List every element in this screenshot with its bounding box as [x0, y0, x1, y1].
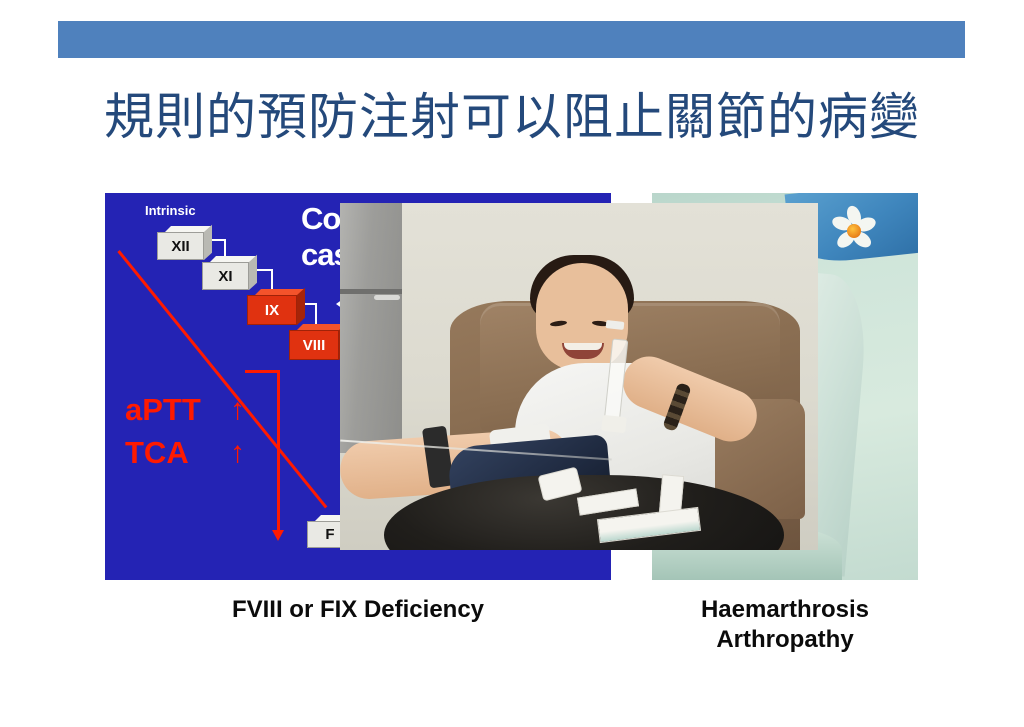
flower-center	[847, 224, 861, 238]
up-arrow-icon: ↑	[230, 431, 245, 474]
refrigerator	[340, 203, 402, 453]
factor-box-label: F	[325, 526, 334, 543]
caption-line-2: Arthropathy	[652, 625, 918, 655]
page-title: 規則的預防注射可以阻止關節的病變	[0, 86, 1024, 148]
factor-box-label: XI	[218, 268, 232, 285]
lab-test-name: TCA	[125, 431, 220, 474]
factor-box-label: VIII	[303, 337, 326, 354]
boy-self-infusion-photo	[340, 203, 818, 550]
caption-line-1: Haemarthrosis	[652, 595, 918, 625]
factor-box-label: XII	[171, 238, 189, 255]
factor-box-xii: XII	[157, 226, 204, 260]
caption-haemarthrosis-arthropathy: Haemarthrosis Arthropathy	[652, 595, 918, 655]
title-accent-bar	[58, 21, 965, 58]
lab-row-tca: TCA ↑	[125, 431, 245, 474]
intrinsic-pathway-label: Intrinsic	[145, 203, 196, 218]
red-arrow-elbow	[245, 370, 280, 373]
fridge-handle	[374, 295, 400, 300]
fridge-door-seam	[340, 289, 402, 294]
lab-test-name: aPTT	[125, 388, 220, 431]
up-arrow-icon: ↑	[230, 388, 245, 431]
boy-teeth	[564, 343, 602, 350]
caption-fviii-fix-deficiency: FVIII or FIX Deficiency	[105, 595, 611, 625]
flower-motif-icon	[832, 209, 876, 253]
red-down-arrow-icon	[277, 371, 280, 531]
factor-box-viii: VIII	[289, 324, 339, 360]
factor-box-ix: IX	[247, 289, 297, 325]
syringe-hub	[601, 415, 627, 433]
lab-row-aptt: aPTT ↑	[125, 388, 245, 431]
factor-box-label: IX	[265, 302, 279, 319]
lab-findings-block: aPTT ↑ TCA ↑	[125, 388, 245, 474]
factor-box-xi: XI	[202, 256, 249, 290]
